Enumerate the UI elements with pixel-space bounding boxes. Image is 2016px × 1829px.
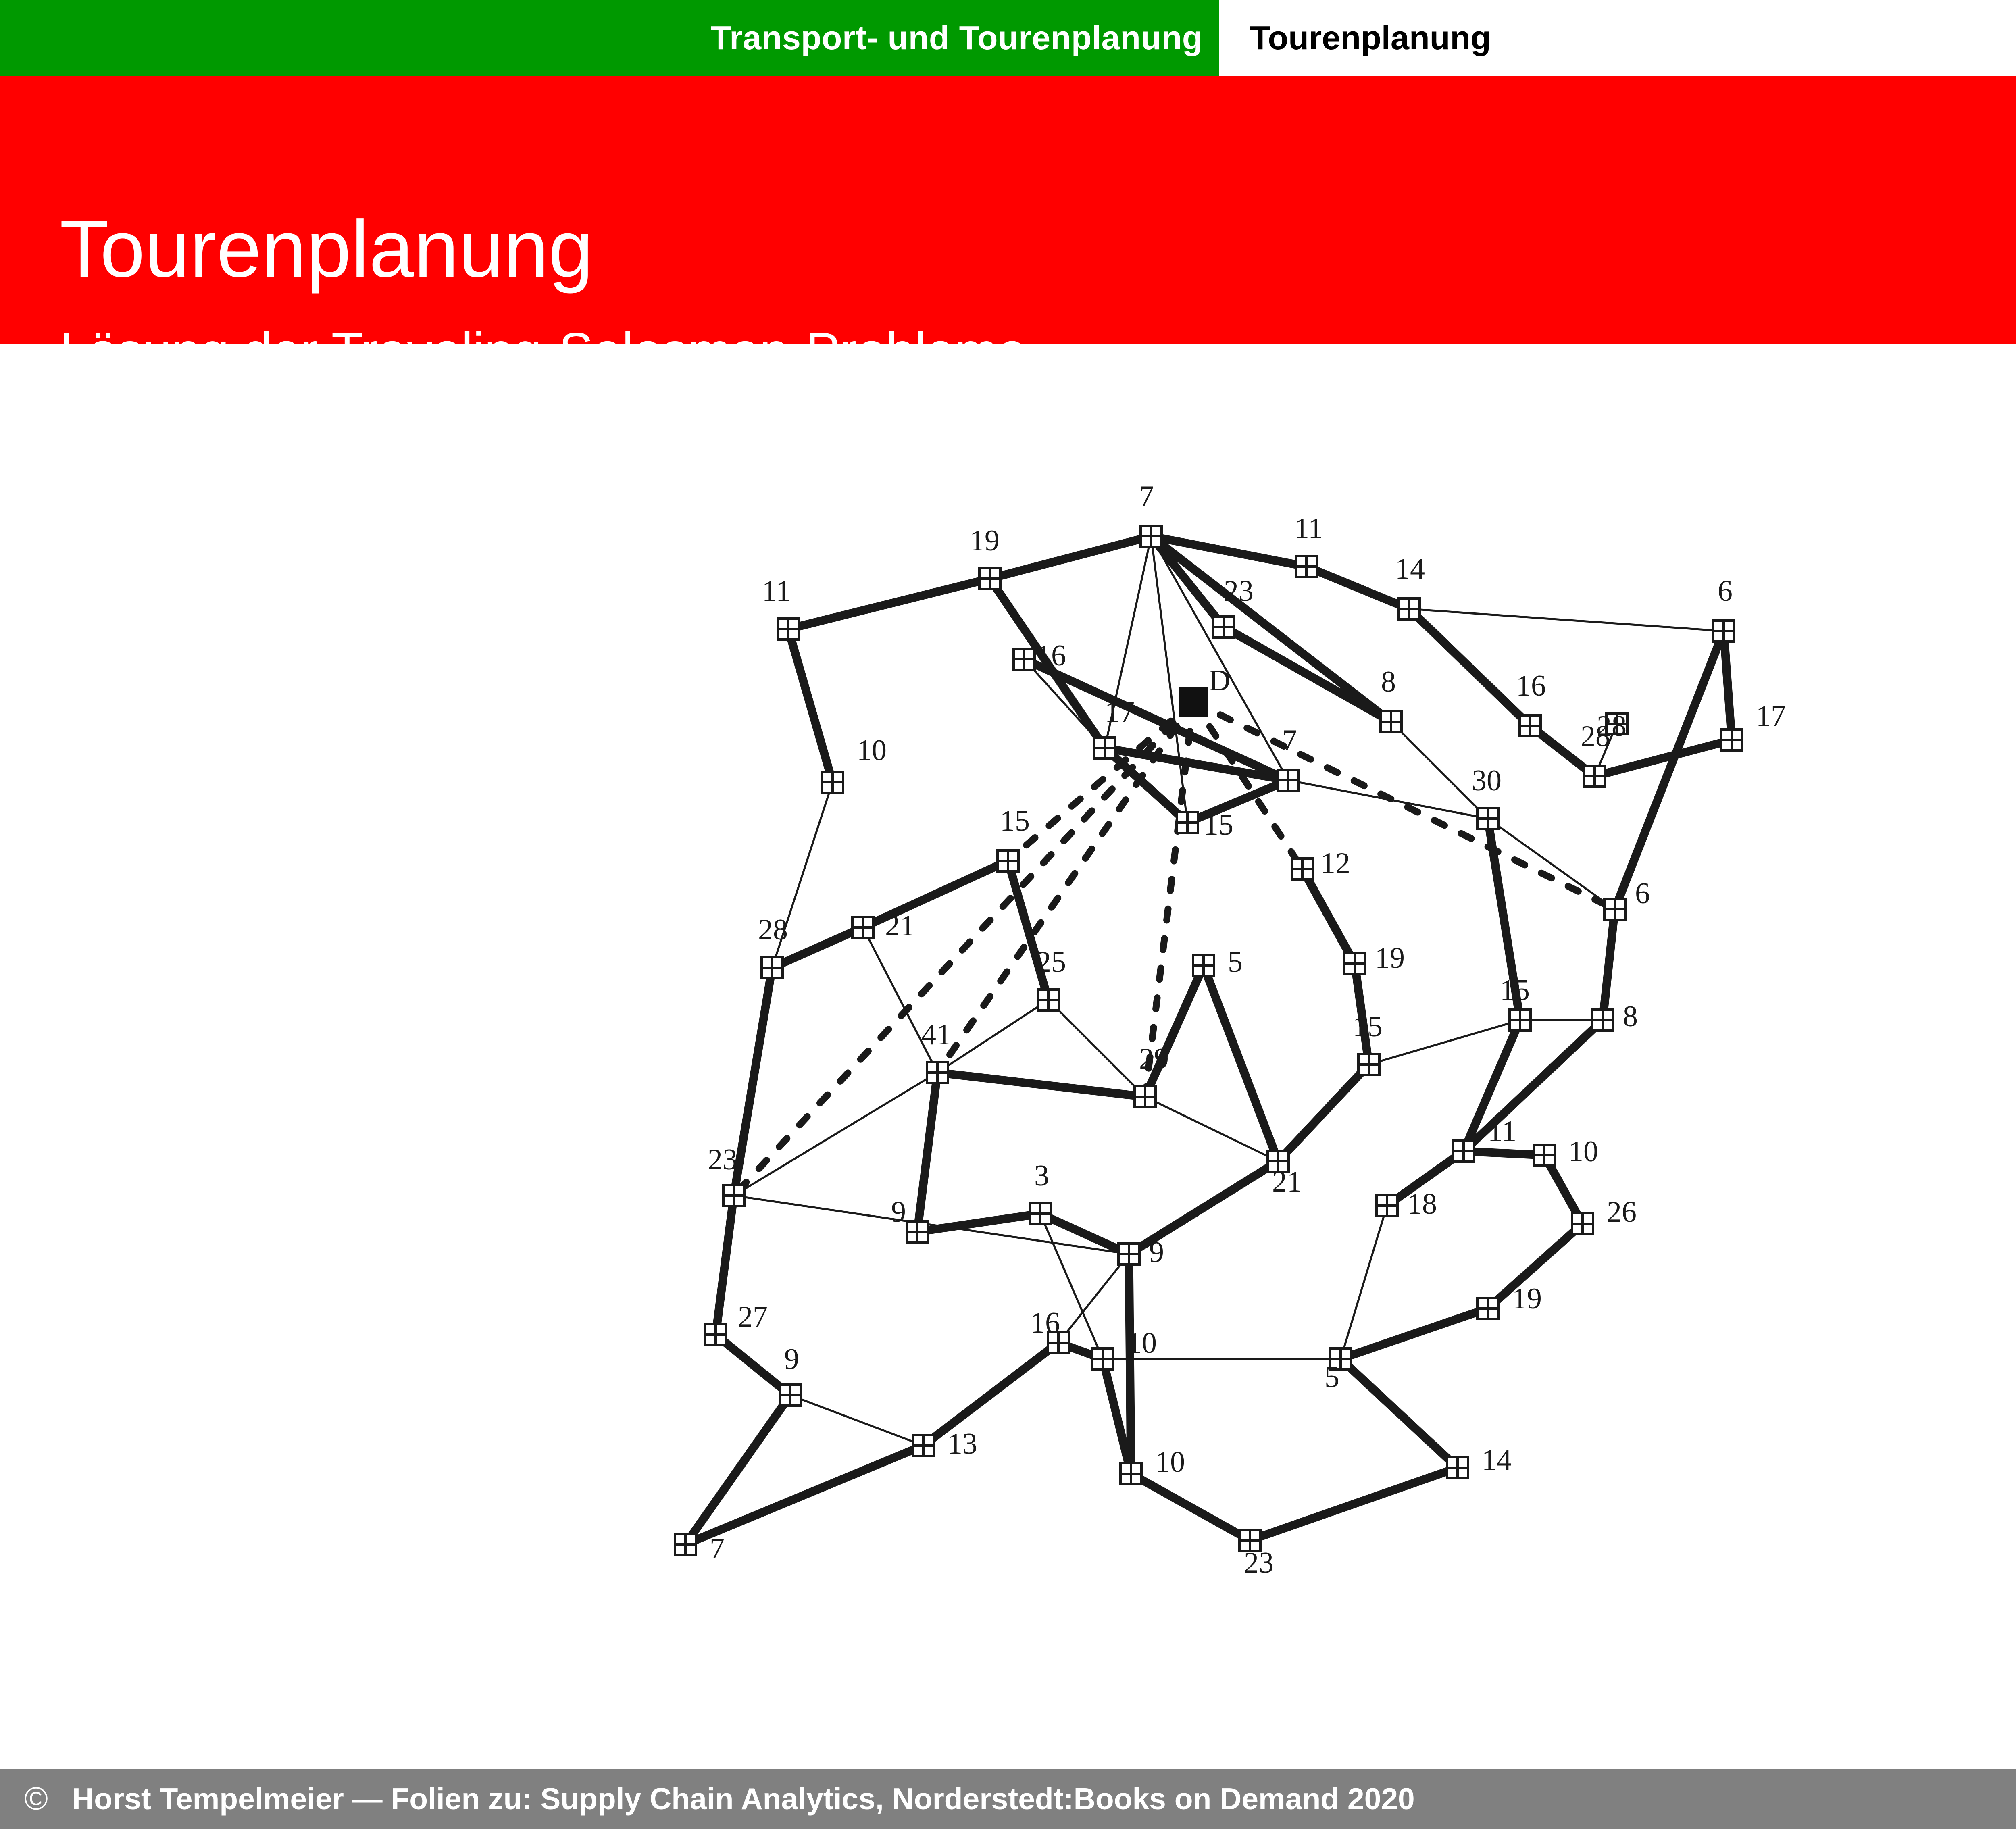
customer-node[interactable]: [1604, 899, 1625, 920]
node-demand-label: 7: [710, 1532, 725, 1565]
customer-node[interactable]: [1584, 766, 1605, 787]
network-edge: [734, 1073, 937, 1196]
network-edge: [1048, 1000, 1145, 1097]
customer-node[interactable]: [1510, 1010, 1531, 1031]
customer-node[interactable]: [1453, 1141, 1474, 1162]
network-edge: [1488, 819, 1615, 909]
network-edge: [937, 1000, 1048, 1073]
network-figure: 1119711146161728238161771015302812156192…: [0, 355, 2016, 1726]
node-demand-label: 21: [1272, 1165, 1302, 1198]
node-demand-label: 7: [1282, 724, 1297, 757]
customer-node[interactable]: [998, 850, 1018, 871]
customer-node[interactable]: [1296, 556, 1317, 577]
footer-text: Horst Tempelmeier — Folien zu: Supply Ch…: [48, 1781, 1415, 1816]
customer-node[interactable]: [1094, 737, 1115, 758]
customer-node[interactable]: [1520, 715, 1541, 736]
node-demand-label: 19: [1375, 942, 1405, 975]
customer-node[interactable]: [907, 1221, 928, 1242]
node-demand-label: 15: [1000, 804, 1030, 837]
customer-node[interactable]: [762, 957, 783, 978]
tour-edge: [1024, 659, 1288, 780]
node-demand-label: 14: [1482, 1444, 1512, 1477]
node-demand-label: 11: [1488, 1115, 1516, 1148]
node-demand-label: 10: [1568, 1135, 1598, 1168]
node-demand-label: 28: [758, 913, 788, 946]
tab-subsection-label: Tourenplanung: [1250, 19, 1491, 57]
tab-section-label: Transport- und Tourenplanung: [711, 19, 1219, 57]
customer-node[interactable]: [1572, 1213, 1593, 1234]
customer-node[interactable]: [1713, 621, 1734, 642]
customer-node[interactable]: [927, 1062, 948, 1083]
network-edge: [1151, 536, 1288, 780]
customer-node[interactable]: [1092, 1348, 1113, 1369]
node-demand-label: 26: [1607, 1196, 1637, 1229]
tour-edge: [1302, 869, 1355, 964]
tour-edge: [1409, 609, 1530, 726]
tour-edge: [917, 1214, 1040, 1232]
node-demand-label: 23: [1224, 575, 1254, 608]
tour-edge: [923, 1343, 1058, 1446]
tour-edge: [1603, 909, 1615, 1020]
node-demand-label: 10: [1155, 1446, 1185, 1479]
node-demand-label: 5: [1228, 946, 1243, 979]
tour-edge: [1341, 1359, 1458, 1468]
node-demand-label: 8: [1623, 1000, 1638, 1033]
node-demand-label: 11: [762, 575, 791, 608]
tour-edge: [1464, 1020, 1603, 1151]
tour-edge: [1278, 1064, 1369, 1161]
tour-edge: [937, 1073, 1145, 1097]
copyright-icon: ©: [0, 1780, 48, 1817]
tour-edge: [1204, 966, 1278, 1161]
customer-node[interactable]: [1721, 729, 1742, 750]
customer-node[interactable]: [1592, 1010, 1613, 1031]
customer-node[interactable]: [780, 1385, 801, 1406]
network-edge: [1409, 609, 1724, 631]
depot-layer: D: [1179, 664, 1230, 717]
tour-edge: [1341, 1308, 1488, 1359]
node-demand-label: 19: [1512, 1282, 1542, 1315]
node-demand-label: 9: [784, 1343, 799, 1376]
customer-node[interactable]: [913, 1435, 934, 1456]
customer-node[interactable]: [1118, 1244, 1139, 1264]
customer-node[interactable]: [1038, 989, 1059, 1010]
node-demand-label: 18: [1407, 1187, 1437, 1221]
node-demand-label: 12: [1320, 847, 1350, 880]
node-demand-label: 8: [1381, 665, 1396, 698]
tour-edge: [788, 579, 990, 629]
customer-node[interactable]: [675, 1534, 696, 1555]
tsp-network-diagram: 1119711146161728238161771015302812156192…: [0, 355, 2016, 1726]
depot-link: [734, 702, 1193, 1196]
node-demand-label: 27: [738, 1300, 768, 1333]
network-edge: [790, 1395, 923, 1446]
tour-edge: [917, 1073, 937, 1232]
node-demand-label: 3: [1034, 1159, 1049, 1192]
customer-node[interactable]: [1135, 1086, 1156, 1107]
customer-node[interactable]: [1120, 1463, 1141, 1484]
node-demand-label: 7: [1139, 480, 1154, 513]
node-demand-label: 14: [1395, 552, 1425, 585]
node-demand-label: 17: [1105, 696, 1135, 729]
node-demand-label: 9: [891, 1196, 906, 1229]
customer-node[interactable]: [1193, 955, 1214, 976]
node-demand-label: 23: [1244, 1546, 1274, 1579]
node-demand-label: 29: [1139, 1042, 1169, 1075]
customer-node[interactable]: [1381, 711, 1402, 732]
node-demand-label: 15: [1204, 808, 1233, 842]
tour-edge: [1250, 1468, 1458, 1540]
customer-node[interactable]: [822, 772, 843, 793]
customer-node[interactable]: [1377, 1195, 1397, 1216]
node-demand-label: 10: [857, 734, 887, 767]
node-demand-label: 5: [1325, 1361, 1339, 1394]
customer-node[interactable]: [1141, 526, 1162, 547]
depot-marker[interactable]: [1179, 687, 1208, 717]
customer-node[interactable]: [705, 1324, 726, 1345]
node-demand-label: 6: [1718, 575, 1733, 608]
node-demand-label: 23: [708, 1143, 737, 1176]
node-demand-label: 13: [948, 1427, 977, 1460]
depot-link: [1193, 702, 1615, 909]
customer-node[interactable]: [1477, 1298, 1498, 1319]
tour-edge: [716, 1196, 734, 1335]
customer-node[interactable]: [852, 917, 873, 938]
node-demand-label: 15: [1353, 1010, 1383, 1043]
tab-transport-und-tourenplanung[interactable]: Transport- und Tourenplanung: [0, 0, 1219, 76]
node-demand-label: 25: [1036, 946, 1066, 979]
customer-node[interactable]: [778, 619, 799, 640]
tour-edge: [1131, 1474, 1250, 1540]
customer-node[interactable]: [979, 568, 1000, 589]
node-demand-label: 10: [1127, 1327, 1157, 1360]
tab-tourenplanung[interactable]: Tourenplanung: [1250, 0, 1491, 76]
network-edge: [1369, 1020, 1520, 1064]
node-demand-label: 17: [1756, 700, 1786, 733]
network-edge: [1341, 1206, 1387, 1359]
tour-edge: [1187, 780, 1288, 823]
node-demand-label: 9: [1149, 1236, 1164, 1269]
tour-edge: [1129, 1254, 1131, 1474]
customer-node[interactable]: [1399, 598, 1420, 619]
customer-node[interactable]: [1447, 1457, 1468, 1478]
node-demand-label: 15: [1500, 974, 1530, 1007]
tour-edge: [1306, 567, 1409, 609]
depot-label: D: [1209, 664, 1230, 697]
customer-node[interactable]: [723, 1185, 744, 1206]
node-demand-label: 16: [1036, 639, 1066, 672]
customer-node[interactable]: [1344, 953, 1365, 974]
title-band: Tourenplanung Lösung der Traveling-Sales…: [0, 76, 2016, 344]
node-demand-label: 21: [885, 909, 915, 942]
tour-edge: [863, 861, 1008, 927]
tour-edge: [1464, 1151, 1544, 1155]
node-demand-label: 30: [1472, 764, 1502, 797]
node-demand-label: 11: [1294, 512, 1323, 545]
tour-edge: [1595, 740, 1732, 776]
node-demand-label: 19: [970, 524, 1000, 557]
network-edge: [1058, 1254, 1129, 1343]
tour-edge: [990, 536, 1151, 579]
customer-node[interactable]: [1030, 1203, 1051, 1224]
tour-edge: [1724, 631, 1732, 740]
node-demand-label: 16: [1030, 1306, 1060, 1339]
customer-node[interactable]: [1358, 1054, 1379, 1075]
node-demand-label: 6: [1635, 877, 1650, 910]
customer-node[interactable]: [1177, 812, 1198, 833]
customer-node[interactable]: [1292, 858, 1313, 879]
tour-edge: [788, 629, 833, 782]
node-demand-label: 28: [1597, 710, 1627, 743]
customer-node[interactable]: [1278, 770, 1299, 791]
footer-bar: © Horst Tempelmeier — Folien zu: Supply …: [0, 1769, 2016, 1829]
customer-node[interactable]: [1477, 808, 1498, 829]
customer-node[interactable]: [1014, 649, 1035, 670]
customer-node[interactable]: [1534, 1145, 1555, 1166]
page-title: Tourenplanung: [60, 209, 593, 290]
node-demand-label: 16: [1516, 669, 1546, 702]
header-bar: Transport- und Tourenplanung Tourenplanu…: [0, 0, 2016, 76]
node-demand-label: 41: [921, 1018, 951, 1051]
customer-node[interactable]: [1213, 617, 1234, 637]
